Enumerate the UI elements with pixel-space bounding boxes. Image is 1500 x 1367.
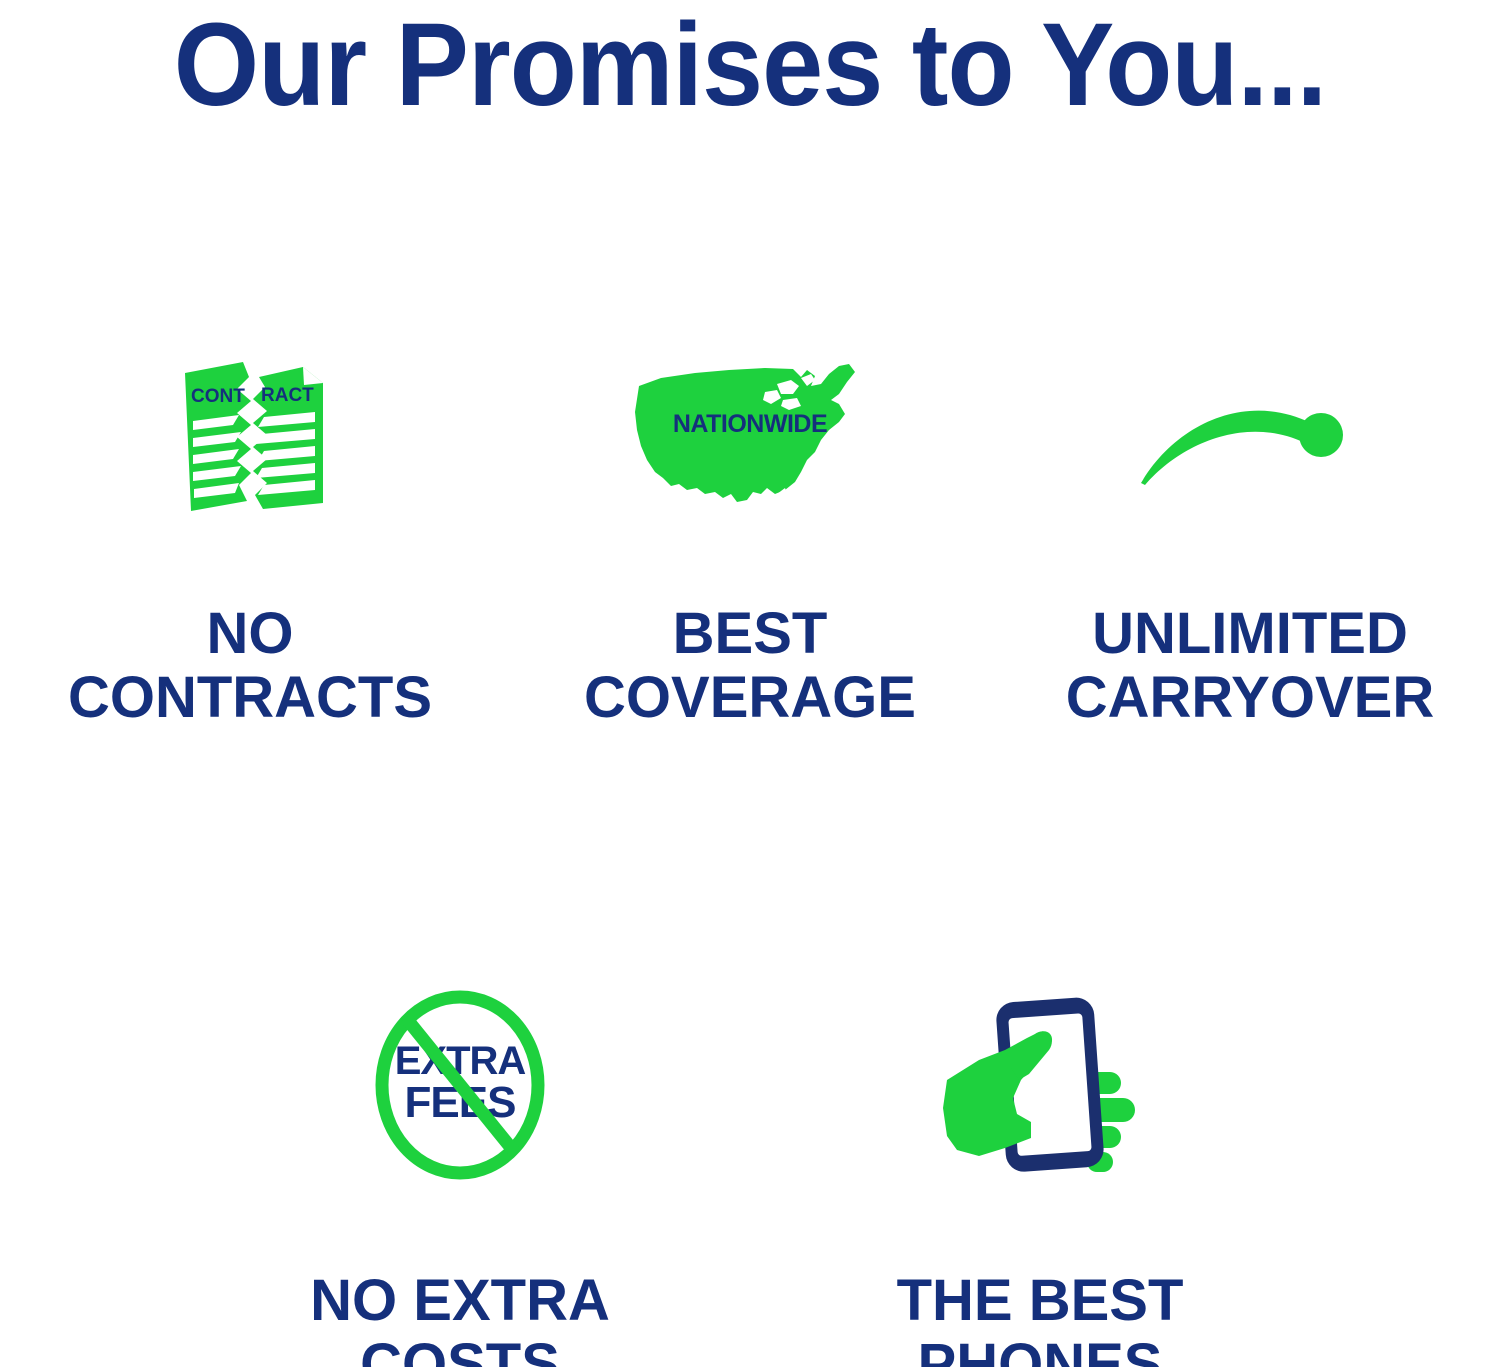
icon-slot (1000, 340, 1500, 540)
page-title: Our Promises to You... (53, 2, 1448, 128)
hand-holding-phone-icon (935, 988, 1145, 1183)
promises-row-top: CONT RACT NO CONTRACTS (0, 340, 1500, 730)
icon-slot: CONT RACT (0, 340, 500, 540)
promise-item-the-best-phones: THE BEST PHONES (750, 975, 1330, 1367)
icon-slot: EXTRA FEES (170, 975, 750, 1195)
promise-label-best-coverage: BEST COVERAGE (584, 602, 916, 730)
promise-label-unlimited-carryover: UNLIMITED CARRYOVER (1066, 602, 1434, 730)
promises-row-bottom: EXTRA FEES NO EXTRA COSTS (0, 975, 1500, 1367)
promise-item-no-contracts: CONT RACT NO CONTRACTS (0, 340, 500, 730)
promise-item-best-coverage: NATIONWIDE BEST COVERAGE (500, 340, 1000, 730)
contract-word-right: RACT (261, 385, 314, 406)
nationwide-word: NATIONWIDE (673, 410, 827, 438)
usa-map-icon: NATIONWIDE (625, 360, 875, 520)
icon-slot (750, 975, 1330, 1195)
icon-slot: NATIONWIDE (500, 340, 1000, 540)
no-extra-fees-icon: EXTRA FEES (368, 988, 553, 1183)
promise-label-the-best-phones: THE BEST PHONES (897, 1269, 1184, 1367)
promise-label-no-contracts: NO CONTRACTS (68, 602, 432, 730)
promises-infographic: Our Promises to You... (0, 0, 1500, 1367)
carryover-arc-icon (1135, 385, 1365, 495)
torn-contract-icon: CONT RACT (163, 353, 338, 528)
promise-label-no-extra-costs: NO EXTRA COSTS (310, 1269, 610, 1367)
carryover-arc-dot (1299, 413, 1343, 457)
promise-item-no-extra-costs: EXTRA FEES NO EXTRA COSTS (170, 975, 750, 1367)
promise-item-unlimited-carryover: UNLIMITED CARRYOVER (1000, 340, 1500, 730)
contract-word-left: CONT (191, 386, 245, 407)
